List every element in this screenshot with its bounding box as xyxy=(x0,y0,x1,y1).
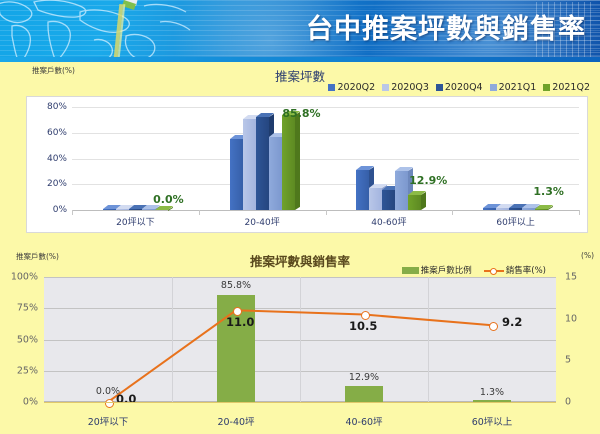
legend-item-2020Q2[interactable]: 2020Q2 xyxy=(328,82,375,93)
chart2-line-label: 10.5 xyxy=(349,319,377,333)
bar-2021Q2[interactable] xyxy=(408,195,421,210)
bar-2020Q4[interactable] xyxy=(382,190,395,210)
chart2-line-label: 0.0 xyxy=(116,392,136,406)
chart2-x-tick: 20-40坪 xyxy=(176,414,296,428)
chart2-line-label: 9.2 xyxy=(502,315,522,329)
legend-item-銷售率[interactable]: 銷售率(%) xyxy=(484,264,546,276)
chart2-y-tick: 25% xyxy=(17,365,38,376)
chart1-data-label: 85.8% xyxy=(282,107,320,120)
slide-page: 台中推案坪數與銷售率 推案坪數 推案戶數(%) 2020Q2 2020Q3 20… xyxy=(0,0,600,434)
chart2-line-marker[interactable] xyxy=(105,399,114,408)
chart1-x-tick: 20-40坪 xyxy=(192,215,332,228)
chart-推案坪數: 推案坪數 推案戶數(%) 2020Q2 2020Q3 2020Q4 2021Q1… xyxy=(0,62,600,247)
legend-item-2020Q4[interactable]: 2020Q4 xyxy=(436,82,483,93)
bar-2021Q2[interactable] xyxy=(535,209,548,210)
chart2-y-axis-title-right: (%) xyxy=(581,251,594,260)
chart1-y-tick: 20% xyxy=(47,179,67,189)
legend-line-marker-icon xyxy=(484,267,504,274)
legend-item-推案戶數比例[interactable]: 推案戶數比例 xyxy=(402,264,472,276)
chart1-legend: 2020Q2 2020Q3 2020Q4 2021Q1 2021Q2 xyxy=(328,82,590,93)
bar-2021Q1[interactable] xyxy=(395,171,408,210)
legend-label: 銷售率(%) xyxy=(506,264,546,276)
legend-swatch-icon xyxy=(436,84,443,91)
chart1-y-axis-title: 推案戶數(%) xyxy=(32,65,75,76)
chart2-sales-rate-line xyxy=(44,277,556,402)
chart1-y-tick: 40% xyxy=(47,154,67,164)
chart2-x-tick: 60坪以上 xyxy=(432,414,552,428)
chart1-data-label: 12.9% xyxy=(409,174,447,187)
legend-label: 2020Q2 xyxy=(337,82,375,93)
legend-swatch-icon xyxy=(402,267,419,274)
chart1-x-tick: 60坪以上 xyxy=(446,215,586,228)
legend-label: 2021Q1 xyxy=(499,82,537,93)
legend-label: 2020Q3 xyxy=(391,82,429,93)
bar-2020Q3[interactable] xyxy=(369,188,382,210)
legend-item-2021Q1[interactable]: 2021Q1 xyxy=(490,82,537,93)
bar-2020Q2[interactable] xyxy=(483,208,496,210)
chart1-group-40-60坪: 40-60坪 xyxy=(326,103,453,210)
chart1-y-tick: 60% xyxy=(47,128,67,138)
chart2-x-tick: 40-60坪 xyxy=(304,414,424,428)
chart1-x-tick: 20坪以下 xyxy=(65,215,205,228)
chart2-y-tick: 75% xyxy=(17,303,38,314)
bar-2020Q2[interactable] xyxy=(230,139,243,210)
legend-label: 2020Q4 xyxy=(445,82,483,93)
chart-推案坪數與銷售率: 推案坪數與銷售率 推案戶數(%) (%) 推案戶數比例 銷售率(%) 100% … xyxy=(0,247,600,434)
chart2-baseline xyxy=(44,402,556,403)
chart2-x-tick: 20坪以下 xyxy=(48,414,168,428)
bar-2021Q2[interactable] xyxy=(282,115,295,210)
chart2-y2-tick: 0 xyxy=(565,397,571,408)
chart2-line-marker[interactable] xyxy=(489,322,498,331)
chart2-y2-tick: 5 xyxy=(565,355,571,366)
chart2-plot-area: 100% 75% 50% 25% 0% 15 10 5 0 0.0% xyxy=(44,277,556,402)
bar-2020Q4[interactable] xyxy=(129,209,142,210)
bar-2020Q2[interactable] xyxy=(103,209,116,210)
legend-item-2021Q2[interactable]: 2021Q2 xyxy=(543,82,590,93)
bar-2020Q3[interactable] xyxy=(243,119,256,210)
legend-swatch-icon xyxy=(328,84,335,91)
chart2-y-axis-title-left: 推案戶數(%) xyxy=(16,251,59,262)
legend-label: 推案戶數比例 xyxy=(421,264,472,276)
chart1-data-label: 1.3% xyxy=(533,185,564,198)
chart1-plot-area: 80% 60% 40% 20% 0% xyxy=(26,96,588,233)
chart2-y-tick: 50% xyxy=(17,334,38,345)
chart2-legend: 推案戶數比例 銷售率(%) xyxy=(402,264,546,276)
bar-2020Q3[interactable] xyxy=(116,209,129,210)
bar-2021Q1[interactable] xyxy=(269,137,282,210)
chart2-y-tick: 0% xyxy=(23,397,38,408)
slide-header: 台中推案坪數與銷售率 xyxy=(0,0,600,62)
chart1-y-tick: 0% xyxy=(53,205,67,215)
chart1-plot-inner: 80% 60% 40% 20% 0% xyxy=(72,103,579,210)
chart2-y2-tick: 10 xyxy=(565,313,577,324)
pencil-graphic xyxy=(96,0,140,62)
bar-2020Q2[interactable] xyxy=(356,170,369,210)
legend-label: 2021Q2 xyxy=(552,82,590,93)
legend-swatch-icon xyxy=(382,84,389,91)
chart1-data-label: 0.0% xyxy=(153,193,184,206)
chart2-line-label: 11.0 xyxy=(226,315,254,329)
chart1-y-tick: 80% xyxy=(47,102,67,112)
bar-2020Q4[interactable] xyxy=(509,208,522,210)
chart2-y2-tick: 15 xyxy=(565,272,577,283)
bar-2021Q1[interactable] xyxy=(142,209,155,210)
legend-swatch-icon xyxy=(543,84,550,91)
bar-2020Q4[interactable] xyxy=(256,117,269,210)
chart2-y-tick: 100% xyxy=(11,272,38,283)
bar-2020Q3[interactable] xyxy=(496,208,509,210)
legend-item-2020Q3[interactable]: 2020Q3 xyxy=(382,82,429,93)
legend-swatch-icon xyxy=(490,84,497,91)
chart1-x-tick: 40-60坪 xyxy=(319,215,459,228)
page-title: 台中推案坪數與銷售率 xyxy=(306,7,586,46)
